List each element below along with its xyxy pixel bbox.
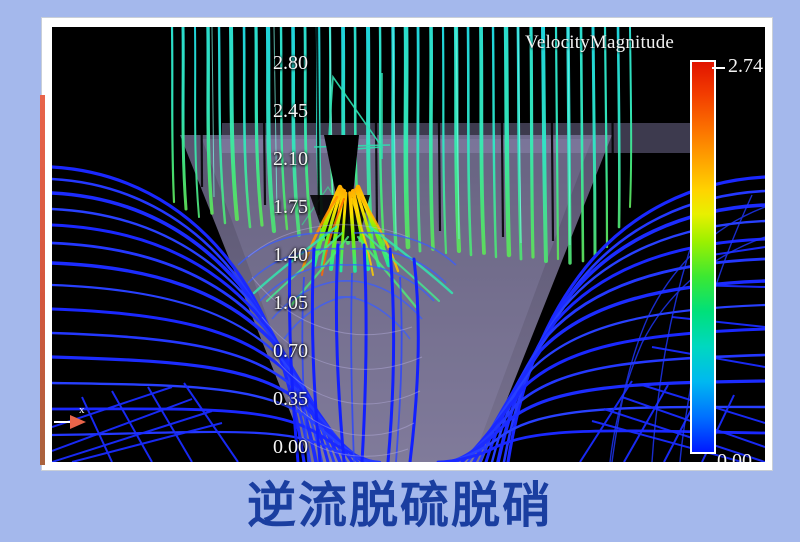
colorbar-tick-5: 1.05 [273,292,308,315]
x-axis-arrow-icon [52,402,122,442]
axis-indicator: x [52,402,122,442]
colorbar-tick-4: 1.40 [273,244,308,267]
figure-root: VelocityMagnitude 2.74 0.00 2.80 2.45 2.… [0,0,800,542]
left-white-strip [45,95,51,470]
axis-label-x: x [79,404,85,416]
left-accent-strip [40,95,45,465]
colorbar-tick-8: 0.00 [273,436,308,459]
colorbar-tick-2: 2.10 [273,148,308,171]
colorbar-tick-6: 0.70 [273,340,308,363]
colorbar-tick-7: 0.35 [273,388,308,411]
render-canvas[interactable]: VelocityMagnitude 2.74 0.00 2.80 2.45 2.… [52,27,765,462]
figure-caption: 逆流脱硫脱硝 [0,474,800,538]
colorbar-tick-3: 1.75 [273,196,308,219]
colorbar-tick-0: 2.80 [273,52,308,75]
colorbar-tick-labels: 2.80 2.45 2.10 1.75 1.40 1.05 0.70 0.35 … [52,27,765,462]
colorbar-tick-1: 2.45 [273,100,308,123]
